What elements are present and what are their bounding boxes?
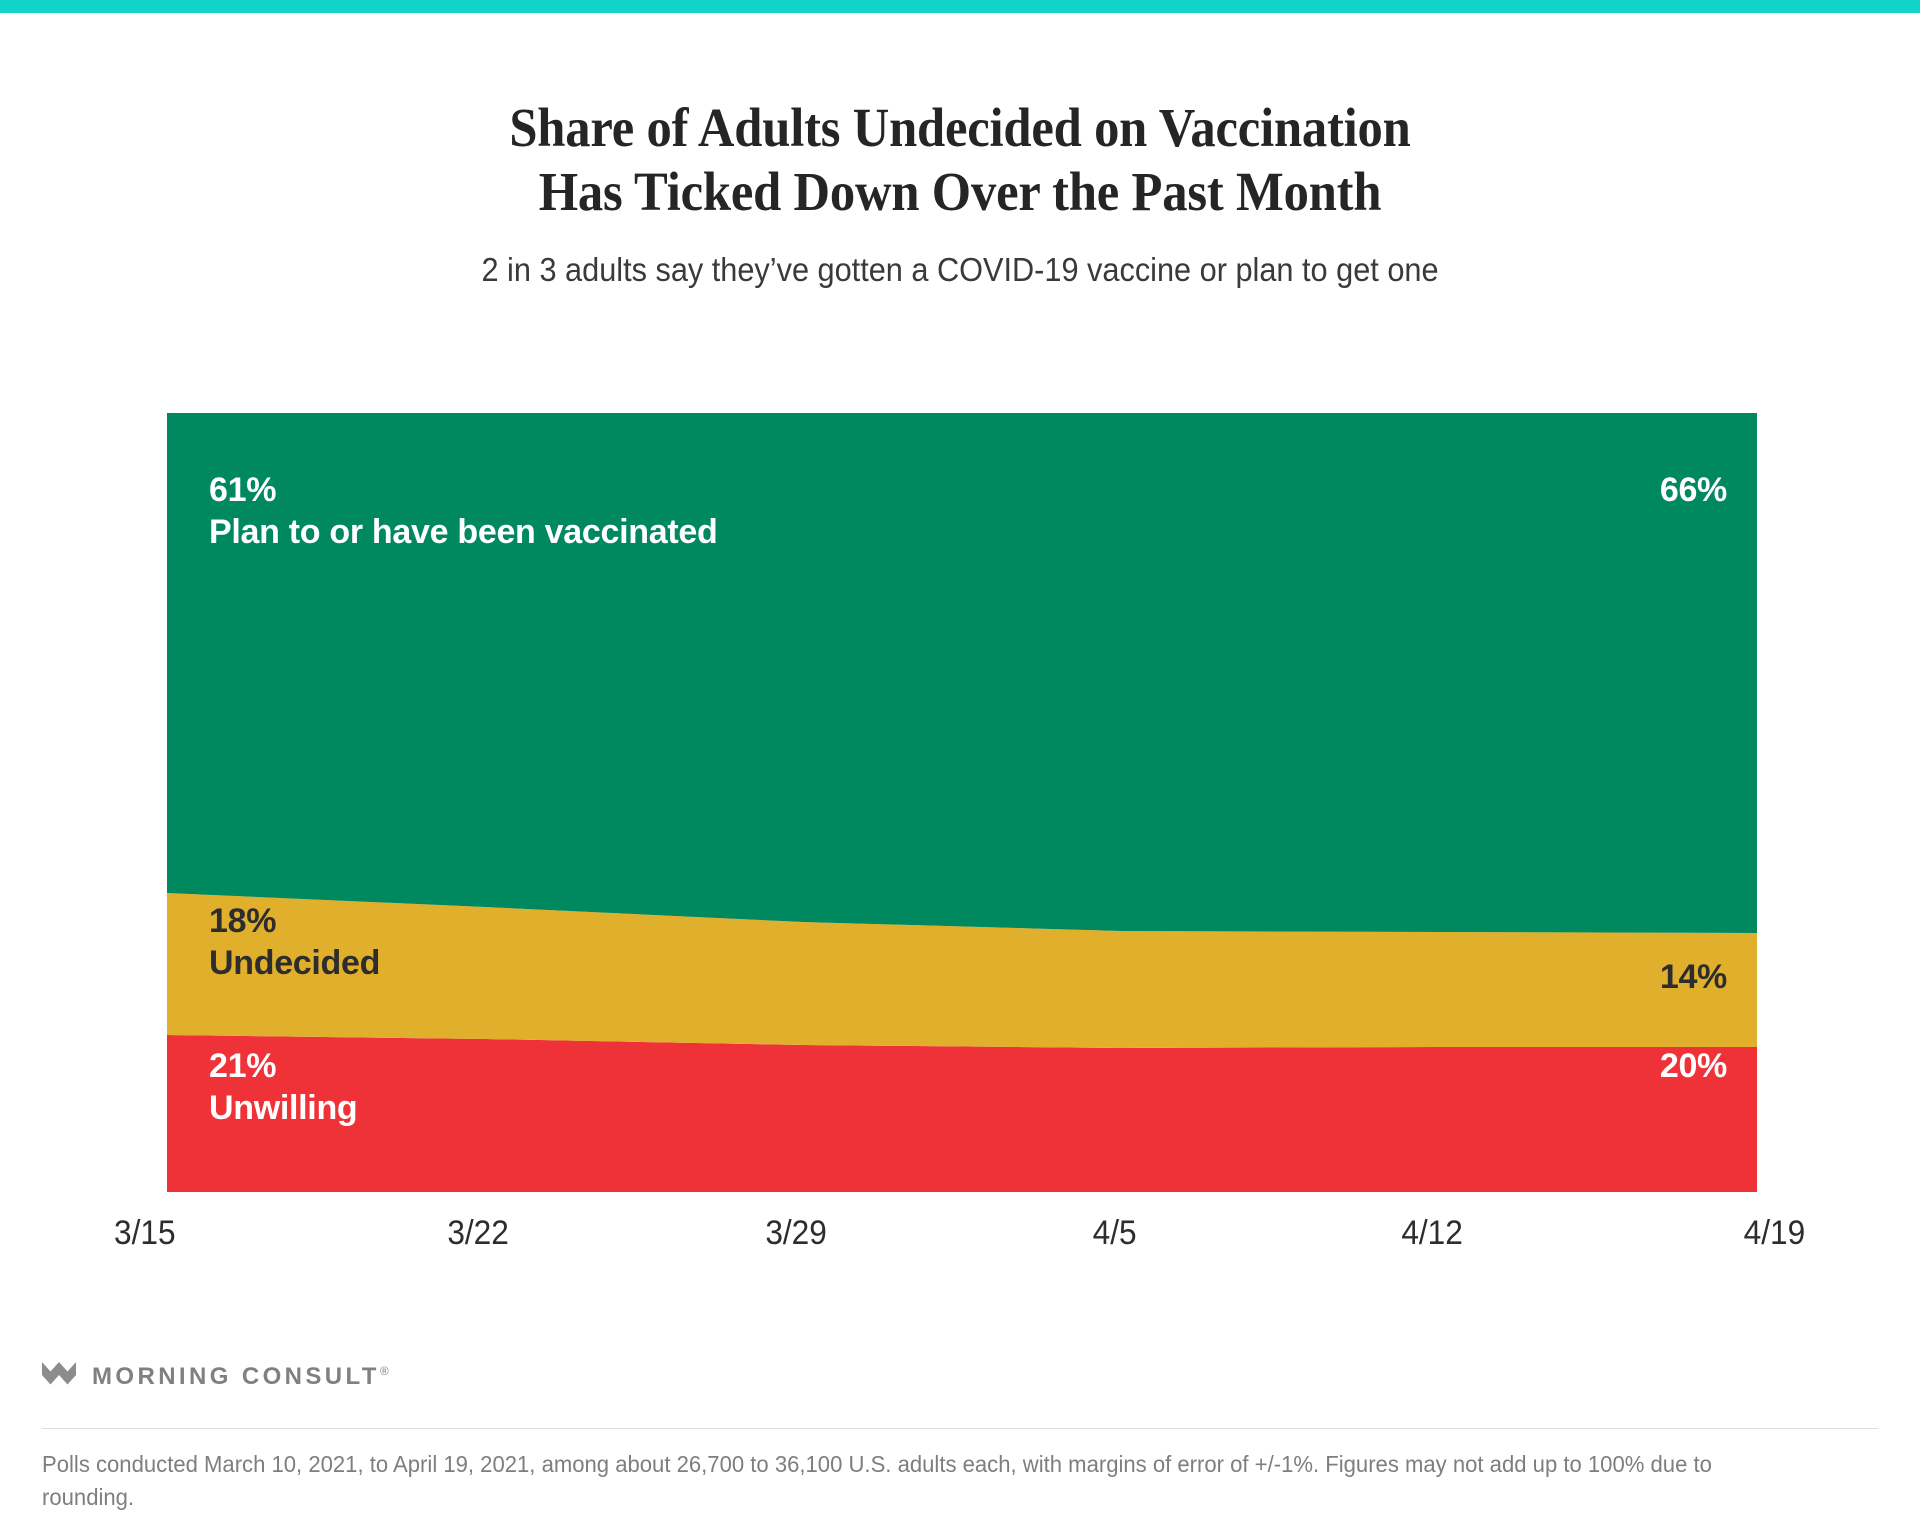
footnote: Polls conducted March 10, 2021, to April… bbox=[42, 1448, 1808, 1514]
page-subtitle: 2 in 3 adults say they’ve gotten a COVID… bbox=[67, 250, 1853, 290]
page-title: Share of Adults Undecided on Vaccination… bbox=[77, 96, 1843, 224]
chart-svg bbox=[167, 413, 1757, 1192]
brand-name-text: MORNING CONSULT bbox=[92, 1363, 380, 1390]
registered-mark-icon: ® bbox=[380, 1364, 389, 1378]
x-tick-0: 3/15 bbox=[114, 1212, 176, 1254]
area-vaccinated bbox=[167, 413, 1757, 933]
headline-block: Share of Adults Undecided on Vaccination… bbox=[0, 96, 1920, 290]
brand-name: MORNING CONSULT® bbox=[92, 1363, 389, 1391]
x-tick-5: 4/19 bbox=[1743, 1212, 1805, 1254]
top-accent-bar bbox=[0, 0, 1920, 13]
x-tick-2: 3/29 bbox=[765, 1212, 827, 1254]
x-tick-1: 3/22 bbox=[447, 1212, 509, 1254]
x-tick-3: 4/5 bbox=[1093, 1212, 1137, 1254]
area-unwilling bbox=[167, 1035, 1757, 1192]
brand-lockup: MORNING CONSULT® bbox=[42, 1362, 389, 1392]
footer-divider bbox=[42, 1428, 1878, 1429]
x-axis: 3/15 3/22 3/29 4/5 4/12 4/19 bbox=[167, 1212, 1757, 1258]
morning-consult-logo-icon bbox=[42, 1362, 76, 1392]
stacked-area-chart: 61% Plan to or have been vaccinated 66% … bbox=[167, 413, 1757, 1192]
x-tick-4: 4/12 bbox=[1401, 1212, 1463, 1254]
